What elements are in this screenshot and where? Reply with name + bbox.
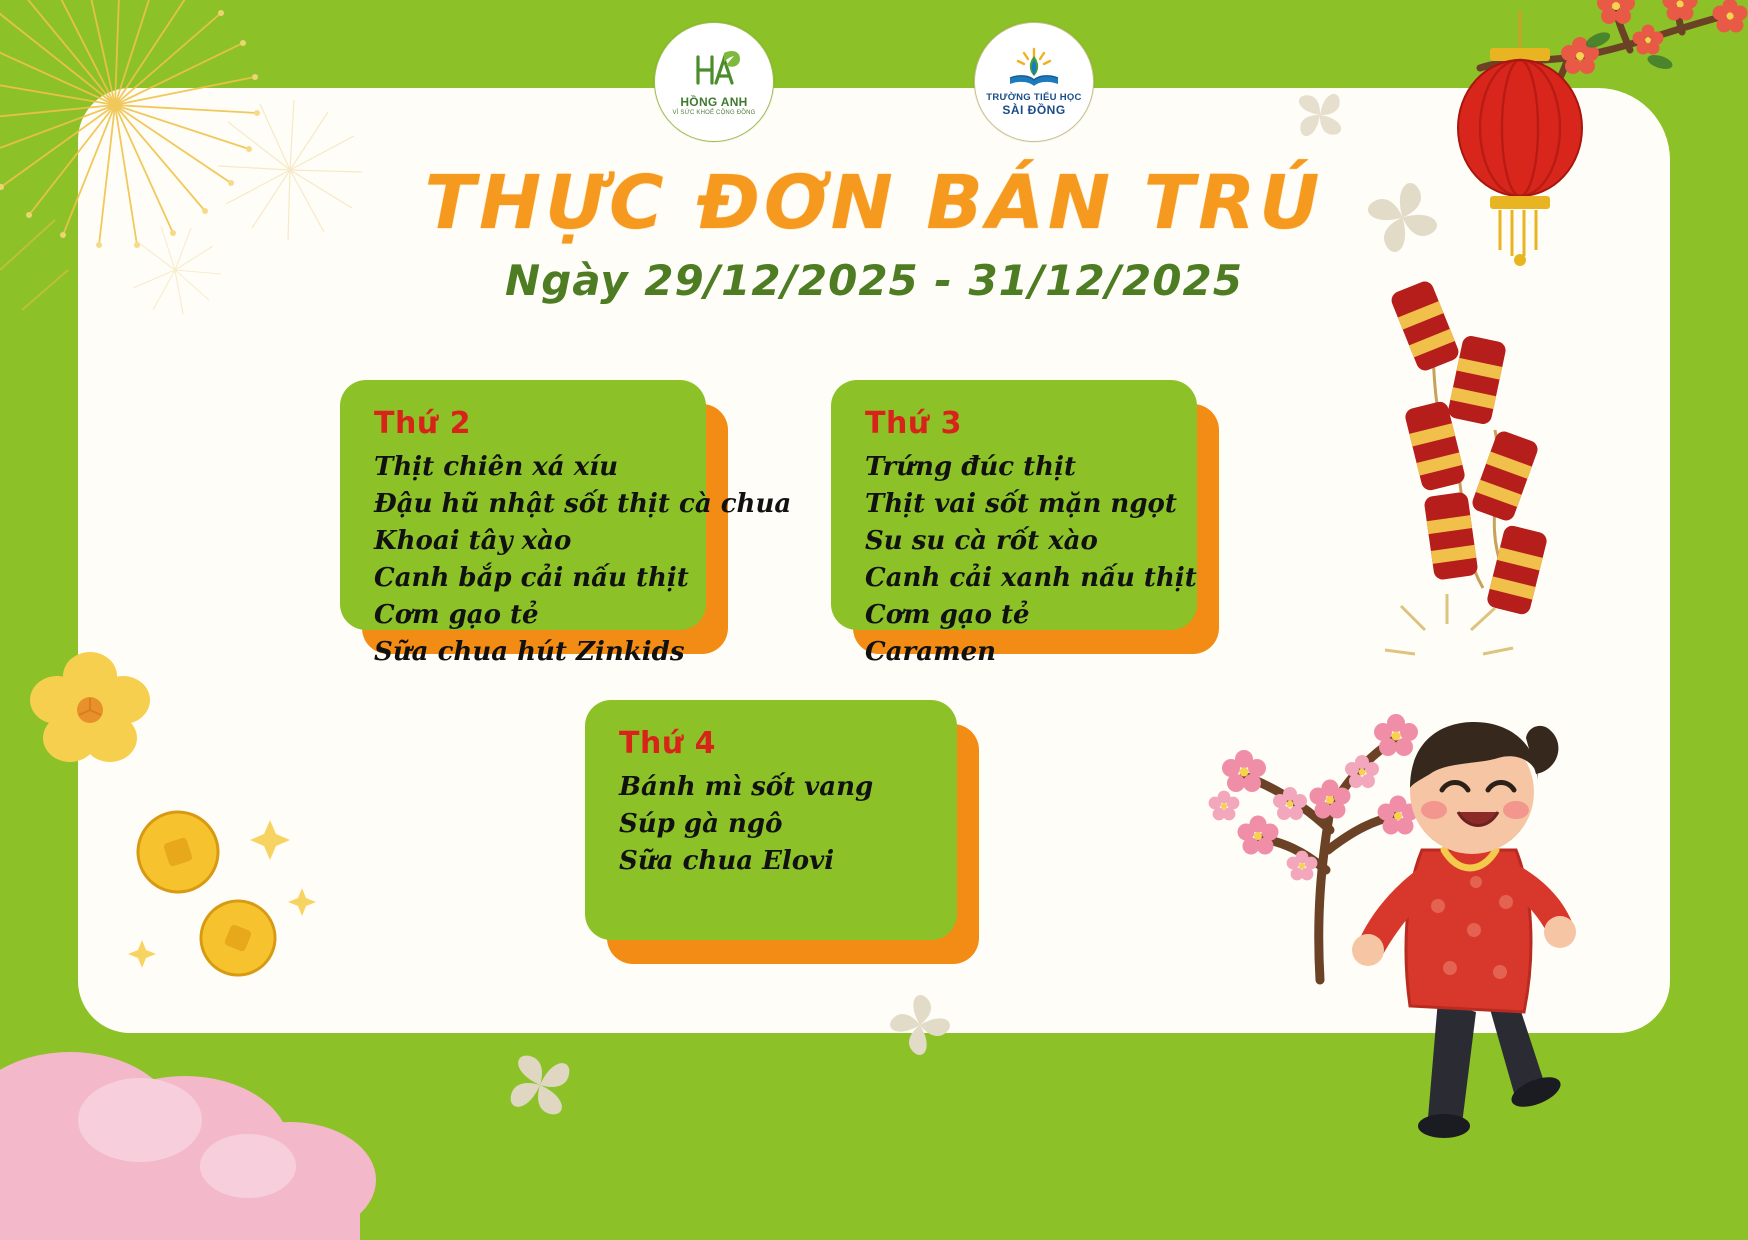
day-label: Thứ 4 — [619, 726, 957, 761]
menu-card-tuesday: Thứ 3 Trứng đúc thịt Thịt vai sốt mặn ng… — [831, 380, 1197, 630]
logo-sai-dong-line1: TRƯỜNG TIỂU HỌC — [986, 92, 1081, 103]
date-range-subtitle: Ngày 29/12/2025 - 31/12/2025 — [0, 256, 1748, 305]
day-label: Thứ 3 — [865, 406, 1197, 441]
menu-card-monday: Thứ 2 Thịt chiên xá xíu Đậu hũ nhật sốt … — [340, 380, 706, 630]
card-body: Thứ 2 Thịt chiên xá xíu Đậu hũ nhật sốt … — [340, 380, 706, 630]
pinwheel-flower-icon — [495, 1040, 585, 1130]
dish-item: Thịt chiên xá xíu — [374, 449, 706, 486]
dish-item: Canh bắp cải nấu thịt — [374, 560, 706, 597]
book-torch-icon — [1006, 46, 1062, 90]
dish-item: Sữa chua hút Zinkids — [374, 634, 706, 671]
dish-item: Súp gà ngô — [619, 806, 957, 843]
card-body: Thứ 3 Trứng đúc thịt Thịt vai sốt mặn ng… — [831, 380, 1197, 630]
logo-hong-anh: HỒNG ANH VÌ SỨC KHOẺ CỘNG ĐỒNG — [654, 22, 774, 142]
dish-item: Cơm gạo tẻ — [865, 597, 1197, 634]
logo-sai-dong: TRƯỜNG TIỂU HỌC SÀI ĐỒNG — [974, 22, 1094, 142]
dish-item: Canh cải xanh nấu thịt — [865, 560, 1197, 597]
logo-hong-anh-tagline: VÌ SỨC KHOẺ CỘNG ĐỒNG — [673, 110, 756, 116]
dish-item: Trứng đúc thịt — [865, 449, 1197, 486]
day-label: Thứ 2 — [374, 406, 706, 441]
logo-sai-dong-line2: SÀI ĐỒNG — [986, 103, 1081, 118]
dish-list: Thịt chiên xá xíu Đậu hũ nhật sốt thịt c… — [374, 449, 706, 670]
dish-item: Bánh mì sốt vang — [619, 769, 957, 806]
dish-item: Caramen — [865, 634, 1197, 671]
menu-card-wednesday: Thứ 4 Bánh mì sốt vang Súp gà ngô Sữa ch… — [585, 700, 957, 940]
logo-hong-anh-name: HỒNG ANH — [680, 95, 747, 109]
dish-item: Sữa chua Elovi — [619, 843, 957, 880]
dish-item: Thịt vai sốt mặn ngọt — [865, 486, 1197, 523]
logo-bar: HỒNG ANH VÌ SỨC KHOẺ CỘNG ĐỒNG TRƯỜNG TI… — [0, 22, 1748, 142]
dish-list: Bánh mì sốt vang Súp gà ngô Sữa chua Elo… — [619, 769, 957, 880]
logo-sai-dong-name: TRƯỜNG TIỂU HỌC SÀI ĐỒNG — [986, 92, 1081, 119]
dish-item: Đậu hũ nhật sốt thịt cà chua — [374, 486, 706, 523]
page-title: THỰC ĐƠN BÁN TRÚ — [0, 160, 1748, 246]
menu-poster: HỒNG ANH VÌ SỨC KHOẺ CỘNG ĐỒNG TRƯỜNG TI… — [0, 0, 1748, 1240]
leaf-monogram-ha-icon — [686, 49, 742, 93]
dish-item: Khoai tây xào — [374, 523, 706, 560]
dish-list: Trứng đúc thịt Thịt vai sốt mặn ngọt Su … — [865, 449, 1197, 670]
dish-item: Cơm gạo tẻ — [374, 597, 706, 634]
dish-item: Su su cà rốt xào — [865, 523, 1197, 560]
card-body: Thứ 4 Bánh mì sốt vang Súp gà ngô Sữa ch… — [585, 700, 957, 940]
